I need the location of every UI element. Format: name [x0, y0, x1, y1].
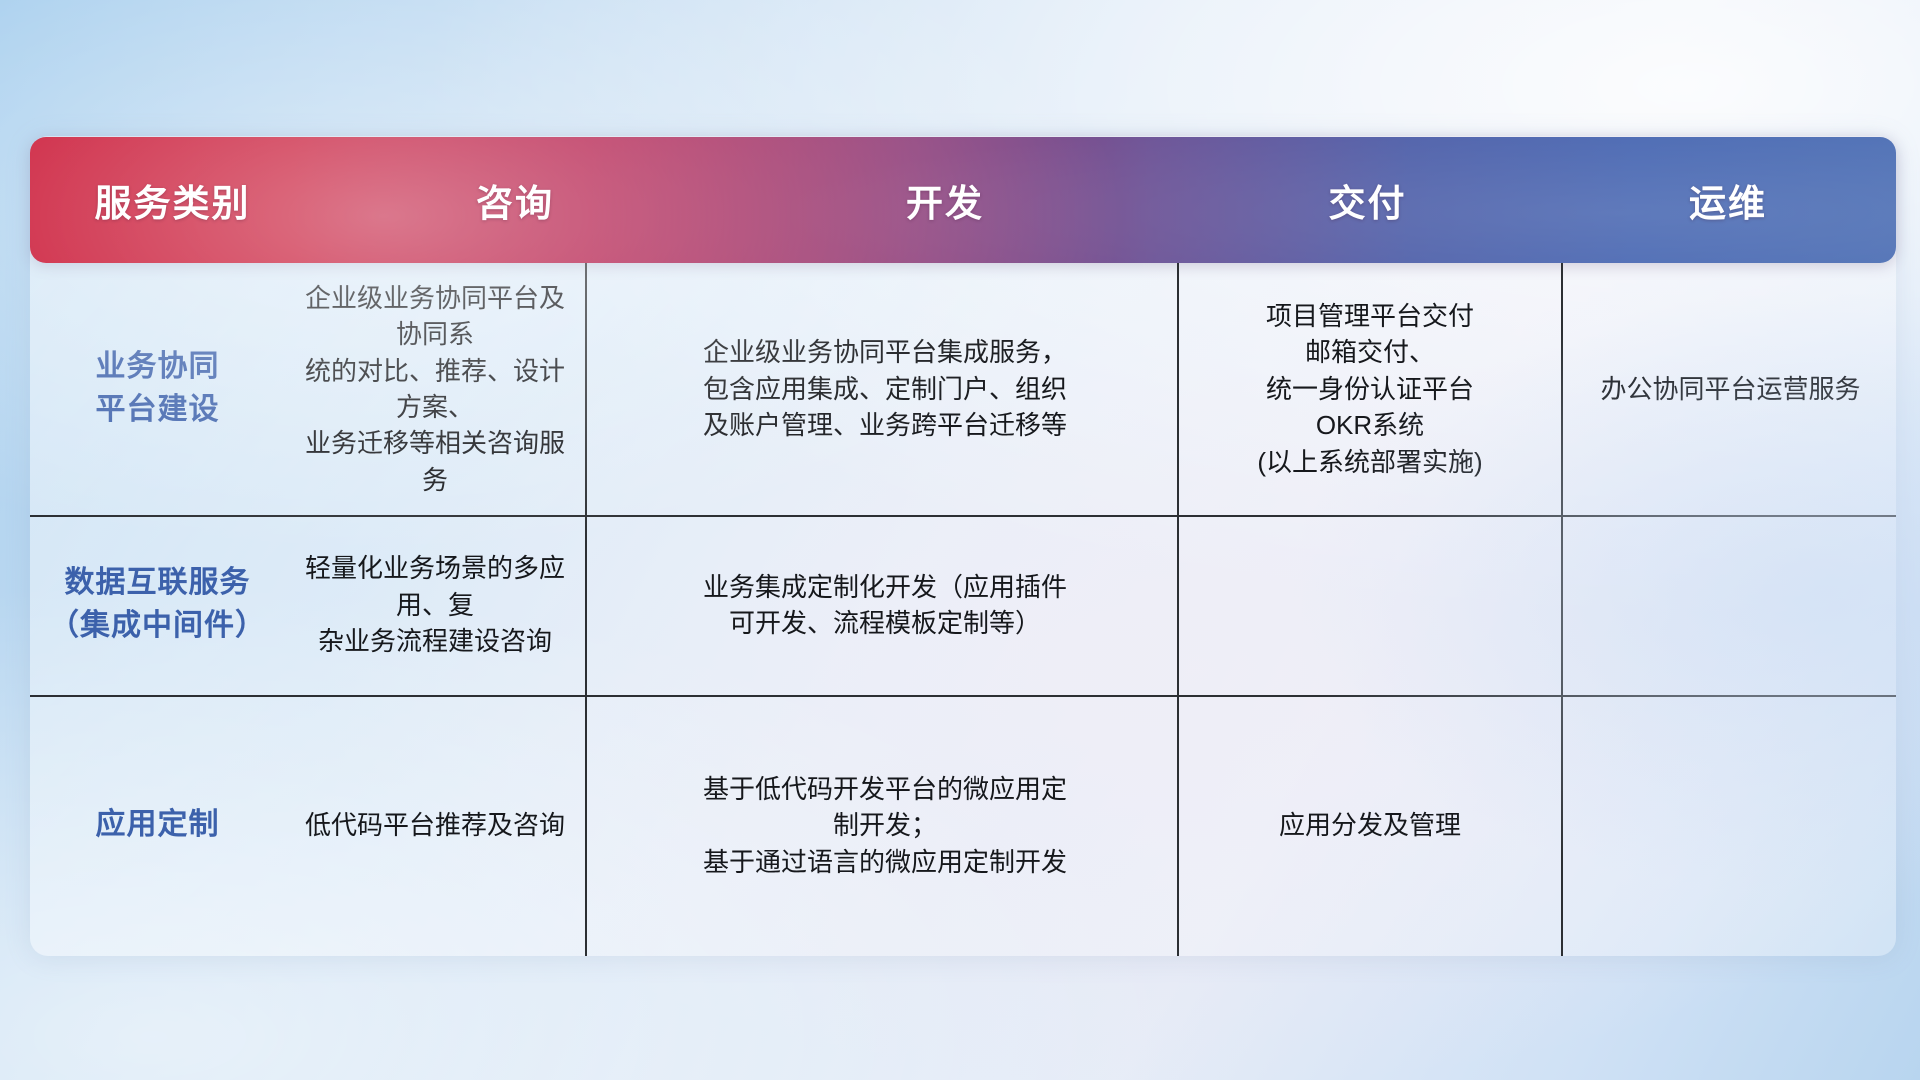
- cell-text: 业务集成定制化开发（应用插件 可开发、流程模板定制等）: [703, 569, 1067, 642]
- category-label-row-1: 业务协同 平台建设: [96, 346, 220, 431]
- cell-text: 办公协同平台运营服务: [1600, 371, 1860, 407]
- cell-consulting-row-3: 低代码平台推荐及咨询: [285, 695, 585, 956]
- cell-operations-row-1: 办公协同平台运营服务: [1565, 263, 1896, 515]
- table-header-cell-category: 服务类别: [30, 173, 315, 227]
- cell-text: 低代码平台推荐及咨询: [305, 807, 565, 843]
- category-label-row-3: 应用定制: [96, 804, 220, 847]
- table-header-row: 服务类别 咨询 开发 交付 运维: [30, 137, 1896, 263]
- cell-text: 基于低代码开发平台的微应用定 制开发； 基于通过语言的微应用定制开发: [703, 771, 1067, 880]
- cell-delivery-row-1: 项目管理平台交付 邮箱交付、 统一身份认证平台 OKR系统 (以上系统部署实施): [1180, 263, 1560, 515]
- cell-development-row-1: 企业级业务协同平台集成服务， 包含应用集成、定制门户、组织 及账户管理、业务跨平…: [590, 263, 1180, 515]
- table-row: 数据互联服务 （集成中间件）: [20, 515, 295, 695]
- cell-development-row-2: 业务集成定制化开发（应用插件 可开发、流程模板定制等）: [590, 515, 1180, 695]
- table-header-cell-operations: 运维: [1560, 173, 1896, 227]
- cell-consulting-row-2: 轻量化业务场景的多应用、复 杂业务流程建设咨询: [285, 515, 585, 695]
- slide-canvas: 服务类别 咨询 开发 交付 运维 业务协同 平台建设 企业级业务协同平台及协同系…: [0, 0, 1920, 1080]
- column-divider-1: [585, 263, 587, 956]
- cell-operations-row-2: [1565, 515, 1896, 695]
- table-header-cell-development: 开发: [715, 173, 1175, 227]
- cell-text: 应用分发及管理: [1279, 807, 1461, 843]
- cell-delivery-row-3: 应用分发及管理: [1180, 695, 1560, 956]
- table-row: 业务协同 平台建设: [30, 263, 285, 515]
- cell-delivery-row-2: [1180, 515, 1560, 695]
- column-divider-3: [1561, 263, 1563, 956]
- cell-text: 企业级业务协同平台集成服务， 包含应用集成、定制门户、组织 及账户管理、业务跨平…: [703, 334, 1067, 443]
- cell-operations-row-3: [1565, 695, 1896, 956]
- cell-text: 轻量化业务场景的多应用、复 杂业务流程建设咨询: [299, 550, 571, 659]
- cell-consulting-row-1: 企业级业务协同平台及协同系 统的对比、推荐、设计方案、 业务迁移等相关咨询服务: [285, 263, 585, 515]
- cell-text: 企业级业务协同平台及协同系 统的对比、推荐、设计方案、 业务迁移等相关咨询服务: [299, 280, 571, 498]
- table-header-cell-delivery: 交付: [1175, 173, 1560, 227]
- cell-text: 项目管理平台交付 邮箱交付、 统一身份认证平台 OKR系统 (以上系统部署实施): [1257, 298, 1482, 480]
- table-header-cell-consulting: 咨询: [315, 173, 715, 227]
- category-label-row-2: 数据互联服务 （集成中间件）: [49, 562, 266, 647]
- table-row: 应用定制: [30, 695, 285, 956]
- cell-development-row-3: 基于低代码开发平台的微应用定 制开发； 基于通过语言的微应用定制开发: [590, 695, 1180, 956]
